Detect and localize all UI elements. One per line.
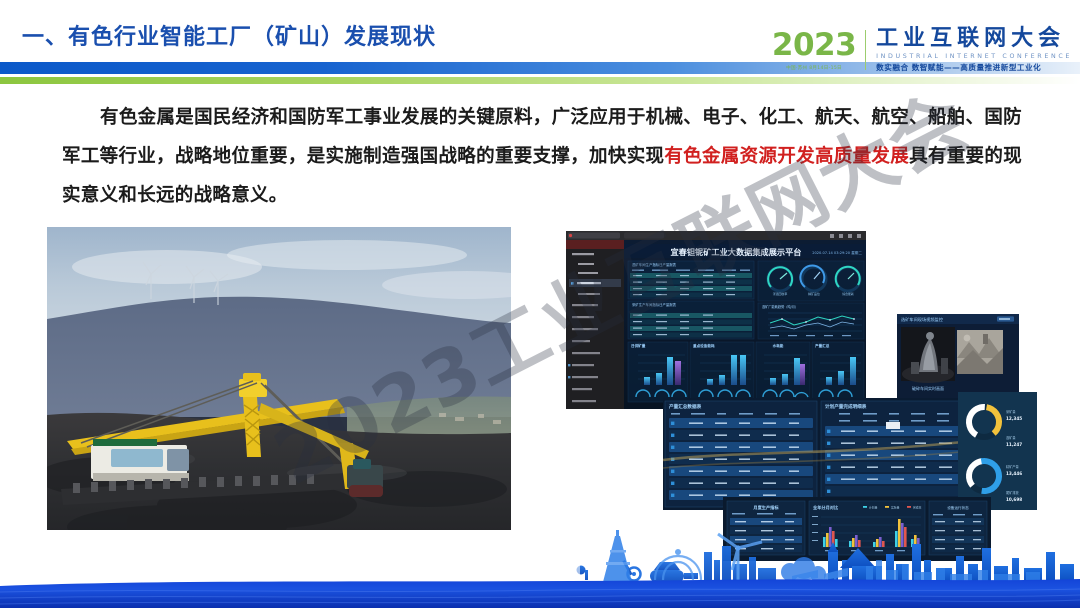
logo-year: 2023 bbox=[772, 30, 856, 61]
body-text-highlight: 有色金属资源开发高质量发展 bbox=[664, 146, 909, 167]
logo-year-subtitle: 中国·苏州 8月14日-15日 bbox=[786, 65, 842, 71]
svg-text:产量汇总数据表: 产量汇总数据表 bbox=[669, 403, 702, 410]
svg-text:选矿车间生产指标日产量报表: 选矿车间生产指标日产量报表 bbox=[632, 262, 677, 267]
logo-text-block: 工业互联网大会 INDUSTRIAL INTERNET CONFERENCE 数… bbox=[876, 27, 1072, 73]
body-paragraph: 有色金属是国民经济和国防军工事业发展的关键原料，广泛应用于机械、电子、化工、航天… bbox=[62, 98, 1022, 215]
svg-text:实际量: 实际量 bbox=[891, 505, 900, 509]
svg-text:产量汇总: 产量汇总 bbox=[815, 343, 830, 348]
logo-divider bbox=[865, 30, 866, 70]
svg-text:设备运行状态: 设备运行状态 bbox=[947, 505, 969, 510]
logo-slogan: 数实融合 数智赋能——高质量推进新型工业化 bbox=[876, 62, 1072, 73]
svg-text:综合能耗: 综合能耗 bbox=[842, 291, 854, 296]
svg-text:选矿车间现场视频监控: 选矿车间现场视频监控 bbox=[901, 316, 944, 323]
conference-logo: 2023 中国·苏州 8月14日-15日 工业互联网大会 INDUSTRIAL … bbox=[772, 24, 1072, 76]
logo-name-cn: 工业互联网大会 bbox=[876, 27, 1072, 51]
svg-text:全年分月对比: 全年分月对比 bbox=[812, 504, 839, 511]
svg-text:尾矿排放: 尾矿排放 bbox=[1006, 490, 1020, 495]
svg-text:水耗能: 水耗能 bbox=[772, 343, 784, 348]
svg-text:11,247: 11,247 bbox=[1006, 442, 1022, 447]
dashboard-data-tables: 产量汇总数据表 bbox=[663, 398, 981, 510]
svg-text:计划量: 计划量 bbox=[869, 505, 878, 509]
svg-text:选矿厂能耗趋势（吨/月）: 选矿厂能耗趋势（吨/月） bbox=[762, 304, 798, 309]
header-rule-green bbox=[0, 77, 1080, 84]
slide-root: 一、有色行业智能工厂（矿山）发展现状 2023 中国·苏州 8月14日-15日 … bbox=[0, 0, 1080, 608]
svg-text:10,698: 10,698 bbox=[1006, 497, 1022, 502]
dashboard-bottom-strip: 月度生产指标 全年分月对比 计划量 bbox=[723, 497, 991, 561]
svg-text:采矿生产车间指标日产量报表: 采矿生产车间指标日产量报表 bbox=[632, 302, 677, 307]
svg-text:完成率: 完成率 bbox=[913, 505, 922, 509]
logo-name-en: INDUSTRIAL INTERNET CONFERENCE bbox=[876, 53, 1072, 60]
svg-text:日供矿量: 日供矿量 bbox=[631, 343, 646, 348]
logo-year-block: 2023 中国·苏州 8月14日-15日 bbox=[772, 30, 865, 71]
svg-text:浮选回收率: 浮选回收率 bbox=[773, 291, 788, 296]
svg-text:13,446: 13,446 bbox=[1006, 471, 1022, 476]
dashboard-video-monitor: 选矿车间现场视频监控 破碎车间实时画面 bbox=[897, 314, 1019, 398]
svg-text:采矿量: 采矿量 bbox=[1006, 409, 1016, 414]
dashboard-main-screenshot: 宜春钽铌矿工业大数据集成展示平台 2020.07.14 03:29:20 星期二… bbox=[566, 231, 866, 409]
page-title: 一、有色行业智能工厂（矿山）发展现状 bbox=[22, 19, 436, 51]
svg-text:2020.07.14 03:29:20 星期二: 2020.07.14 03:29:20 星期二 bbox=[812, 250, 862, 255]
svg-text:月度生产指标: 月度生产指标 bbox=[752, 504, 779, 511]
svg-text:计划产量完成明细表: 计划产量完成明细表 bbox=[825, 403, 867, 410]
dashboard-donut-kpis: 采矿量 选矿量 12,345 11,247 精矿产量 尾矿排放 13,446 1… bbox=[958, 392, 1037, 510]
svg-text:重点设备能耗: 重点设备能耗 bbox=[693, 343, 715, 348]
mine-photo bbox=[47, 227, 511, 545]
svg-text:精矿产量: 精矿产量 bbox=[1006, 464, 1020, 469]
svg-text:宜春钽铌矿工业大数据集成展示平台: 宜春钽铌矿工业大数据集成展示平台 bbox=[670, 247, 801, 257]
svg-text:精矿品位: 精矿品位 bbox=[808, 291, 820, 296]
svg-text:选矿量: 选矿量 bbox=[1006, 435, 1016, 440]
svg-text:12,345: 12,345 bbox=[1006, 416, 1022, 421]
svg-text:破碎车间实时画面: 破碎车间实时画面 bbox=[912, 385, 944, 391]
